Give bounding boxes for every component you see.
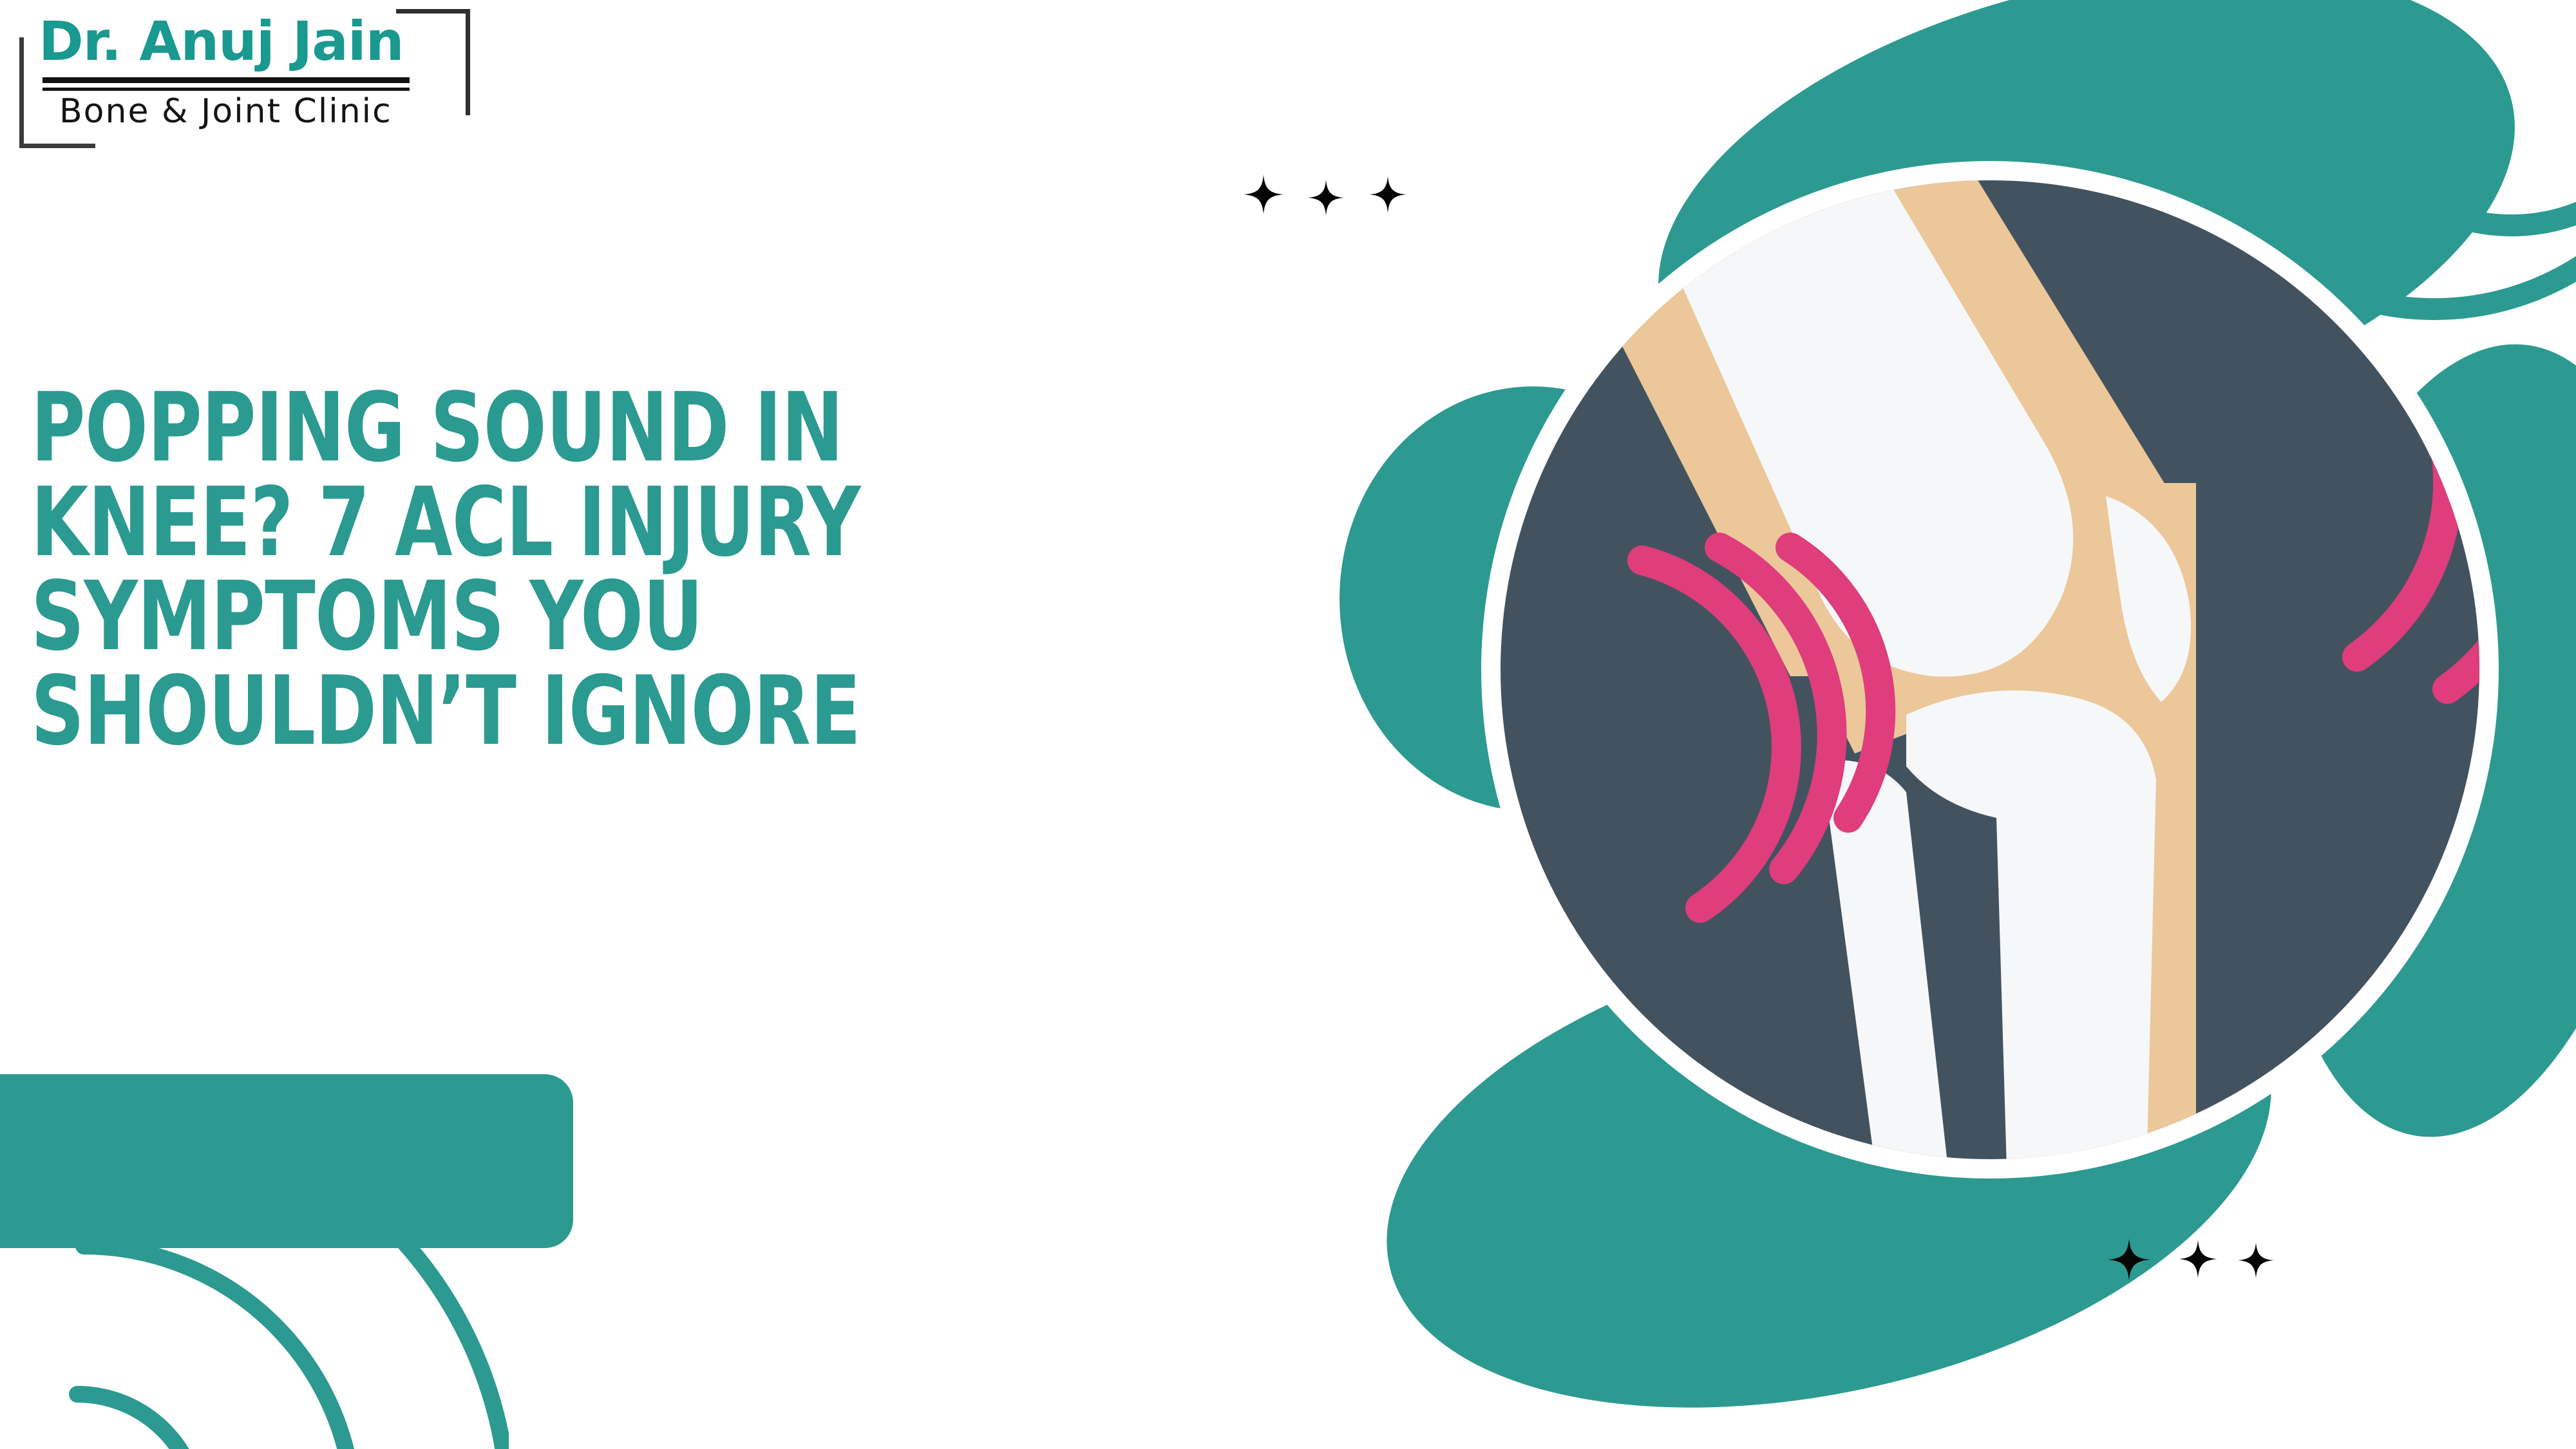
logo-divider-thin [43, 88, 410, 91]
headline-line-1: POPPING SOUND IN [31, 381, 945, 475]
blog-banner: Dr. Anuj Jain Bone & Joint Clinic POPPIN… [0, 0, 2576, 1449]
sparkle-star-icon [2178, 1239, 2218, 1279]
logo-divider-thick [43, 77, 410, 83]
clinic-logo[interactable]: Dr. Anuj Jain Bone & Joint Clinic [19, 6, 470, 155]
sparkle-star-icon [2107, 1238, 2151, 1282]
knee-anatomy-illustration [1340, 0, 2576, 1449]
corner-arc-decoration [0, 1195, 509, 1449]
headline-line-2: KNEE? 7 ACL INJURY [31, 475, 945, 570]
page-title: POPPING SOUND IN KNEE? 7 ACL INJURY SYMP… [31, 381, 945, 758]
logo-doctor-name: Dr. Anuj Jain [39, 13, 404, 70]
logo-clinic-tagline: Bone & Joint Clinic [59, 92, 392, 131]
sparkle-star-icon [1243, 174, 1284, 215]
sparkle-star-icon [2237, 1242, 2275, 1279]
headline-line-3: SYMPTOMS YOU [31, 569, 945, 664]
logo-bracket-top-right-icon [396, 9, 470, 115]
headline-line-4: SHOULDN’T IGNORE [31, 664, 945, 759]
